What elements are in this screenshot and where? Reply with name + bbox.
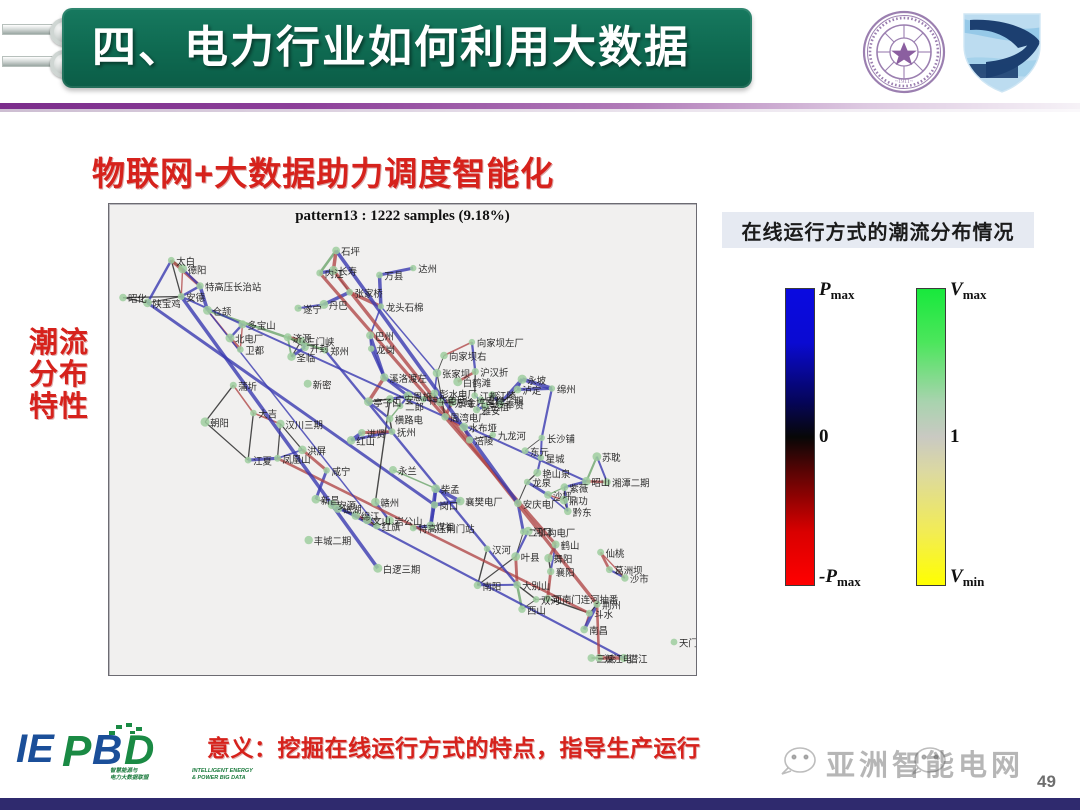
svg-text:天门: 天门 [679,638,696,650]
svg-text:三峡: 三峡 [596,654,615,666]
svg-text:艳山泉: 艳山泉 [542,468,571,480]
svg-text:达州: 达州 [418,264,437,276]
colorbar-gradient-voltage [916,288,946,586]
svg-text:大别山: 大别山 [522,580,550,592]
colorbar-label-neg-pmax: -Pmax [819,566,861,590]
svg-text:泸定: 泸定 [523,385,542,397]
network-graph-panel: pattern13 : 1222 samples (9.18%) 昭化陕宝鸡太白… [108,203,697,676]
svg-text:特高压长治站: 特高压长治站 [205,282,261,294]
side-label-line-2: 分布 [16,359,102,391]
page-title: 四、电力行业如何利用大数据 [92,13,732,83]
svg-text:安源: 安源 [337,500,356,512]
svg-text:多宝山: 多宝山 [248,320,276,332]
svg-text:白逻三期: 白逻三期 [383,564,421,576]
bottom-bar [0,798,1080,810]
svg-text:襄樊电厂: 襄樊电厂 [465,497,503,509]
header-banner: 四、电力行业如何利用大数据 [62,8,752,88]
colorbar-gradient-power [785,288,815,586]
svg-text:B: B [92,726,122,772]
svg-text:巴州: 巴州 [375,332,394,343]
svg-text:蒲圻: 蒲圻 [238,381,257,393]
svg-text:双河: 双河 [541,595,560,607]
svg-text:柴孟: 柴孟 [441,484,460,496]
info-box: 在线运行方式的潮流分布情况 [722,212,1034,248]
section-heading: 物联网+大数据助力调度智能化 [92,147,554,195]
svg-text:德阳: 德阳 [188,264,207,276]
svg-text:石坪: 石坪 [341,246,360,258]
svg-text:抚州: 抚州 [397,427,416,439]
svg-text:舞阳: 舞阳 [554,555,573,566]
tsinghua-university-seal: ~1911~ [862,10,946,94]
svg-text:岗口: 岗口 [440,502,459,513]
svg-text:龙岗: 龙岗 [376,344,395,356]
svg-text:龙头石棉: 龙头石棉 [386,302,424,314]
svg-text:北电厂: 北电厂 [235,334,263,346]
svg-text:咸宁: 咸宁 [332,466,351,478]
svg-text:安德: 安德 [186,292,205,304]
slide-header: 四、电力行业如何利用大数据 ~1911~ [0,0,1080,103]
svg-text:苏耽: 苏耽 [602,452,621,464]
svg-text:鼎功: 鼎功 [569,497,588,508]
svg-text:涪陵: 涪陵 [475,436,494,448]
colorbar-label-vmax: Vmax [950,279,987,303]
svg-text:进贤: 进贤 [367,429,386,440]
chart-title: pattern13 : 1222 samples (9.18%) [109,208,696,225]
svg-text:向家坝右: 向家坝右 [449,351,487,363]
colorbar-label-vmin: Vmin [950,566,984,590]
svg-text:九龙河: 九龙河 [498,431,527,443]
colorbar-label-zero: 0 [819,426,829,448]
svg-text:卫都: 卫都 [245,346,264,357]
watermark-text: 亚洲智能电网 [826,742,1024,784]
iepbd-logo: IE P B D 智慧能源与 电力大数据联盟 INTELLIGENT ENERG… [14,722,212,790]
svg-text:张家坝: 张家坝 [442,369,470,381]
svg-text:溪洛渡左: 溪洛渡左 [389,373,427,385]
svg-text:黔东: 黔东 [573,507,592,519]
header-divider-shadow [0,109,1080,112]
svg-text:沙坪: 沙坪 [553,491,572,503]
svg-text:遂宁: 遂宁 [303,304,322,316]
svg-text:江都: 江都 [480,392,499,403]
watermark: 亚洲智能电网 [778,740,1078,784]
svg-text:郑州: 郑州 [330,346,349,358]
svg-text:万县: 万县 [385,272,404,283]
svg-text:沙市: 沙市 [630,574,649,586]
svg-text:张家桥: 张家桥 [355,288,384,300]
svg-text:洪屏: 洪屏 [307,445,326,457]
side-label-line-1: 潮流 [16,327,102,359]
svg-text:江陵: 江陵 [497,392,516,403]
side-label-line-3: 特性 [16,391,102,423]
svg-text:汉河: 汉河 [492,544,511,556]
svg-text:丹巴: 丹巴 [329,301,348,312]
svg-text:潜江: 潜江 [629,654,648,666]
svg-text:长寿: 长寿 [338,266,357,278]
svg-text:煤祖: 煤祖 [436,521,455,533]
iepbd-en-tagline: INTELLIGENT ENERGY & POWER BIG DATA [192,768,312,782]
page-number: 49 [1037,772,1056,792]
svg-text:荆州: 荆州 [602,600,621,612]
colorbar-label-pmax: Pmax [819,279,854,303]
svg-text:横路电: 横路电 [395,414,423,426]
svg-text:江夏: 江夏 [253,457,272,468]
svg-text:赣州: 赣州 [380,498,399,510]
svg-text:向家坝左厂: 向家坝左厂 [477,338,524,350]
blue-shield-logo [956,8,1048,96]
svg-text:河口: 河口 [533,527,552,539]
svg-text:仓颉: 仓颉 [213,306,232,318]
svg-text:P: P [62,727,92,772]
svg-text:汉川三期: 汉川三期 [285,421,323,432]
svg-text:紫薇: 紫薇 [569,483,588,495]
svg-text:恩施: 恩施 [413,392,432,404]
svg-text:星城: 星城 [546,454,565,465]
svg-text:陕宝鸡: 陕宝鸡 [153,298,181,310]
footer-caption: 意义：挖掘在线运行方式的特点，指导生产运行 [207,729,701,763]
info-box-label: 在线运行方式的潮流分布情况 [742,216,1015,245]
svg-text:南昌: 南昌 [589,625,608,637]
svg-text:~1911~: ~1911~ [895,79,914,85]
svg-text:新昌: 新昌 [321,495,340,507]
svg-text:襄阳: 襄阳 [556,567,575,579]
svg-text:昭山: 昭山 [591,478,610,489]
svg-text:D: D [124,726,154,772]
svg-text:绵州: 绵州 [557,384,576,396]
svg-text:圣临: 圣临 [297,352,316,364]
svg-text:水布垭: 水布垭 [469,423,497,435]
svg-text:大吉: 大吉 [258,409,277,421]
colorbar-label-one: 1 [950,426,960,448]
power-grid-network-graph: 昭化陕宝鸡太白德阳特高压长治站北电厂安德卫都仓颉济源多宝山开封圣临三门峡郑州新密… [109,230,696,674]
svg-text:丰城二期: 丰城二期 [314,536,352,548]
svg-text:永兰: 永兰 [398,466,417,478]
svg-text:彭水电厂: 彭水电厂 [439,389,477,401]
svg-text:IE: IE [16,727,55,771]
svg-text:沪汉折: 沪汉折 [480,367,508,379]
side-label: 潮流 分布 特性 [16,327,102,423]
svg-text:西山: 西山 [527,606,546,617]
svg-text:南阳: 南阳 [483,581,502,593]
svg-text:昭化: 昭化 [128,293,147,305]
svg-text:叶县: 叶县 [521,553,540,564]
svg-text:永坡: 永坡 [527,375,546,387]
svg-text:朝阳: 朝阳 [210,419,229,430]
svg-text:新密: 新密 [313,379,332,391]
svg-text:湘潭二期: 湘潭二期 [612,478,650,490]
svg-text:鹤山: 鹤山 [561,540,580,552]
svg-text:仙桃: 仙桃 [606,548,625,560]
svg-text:长沙铺: 长沙铺 [547,433,575,445]
svg-text:三门峡: 三门峡 [306,336,335,348]
